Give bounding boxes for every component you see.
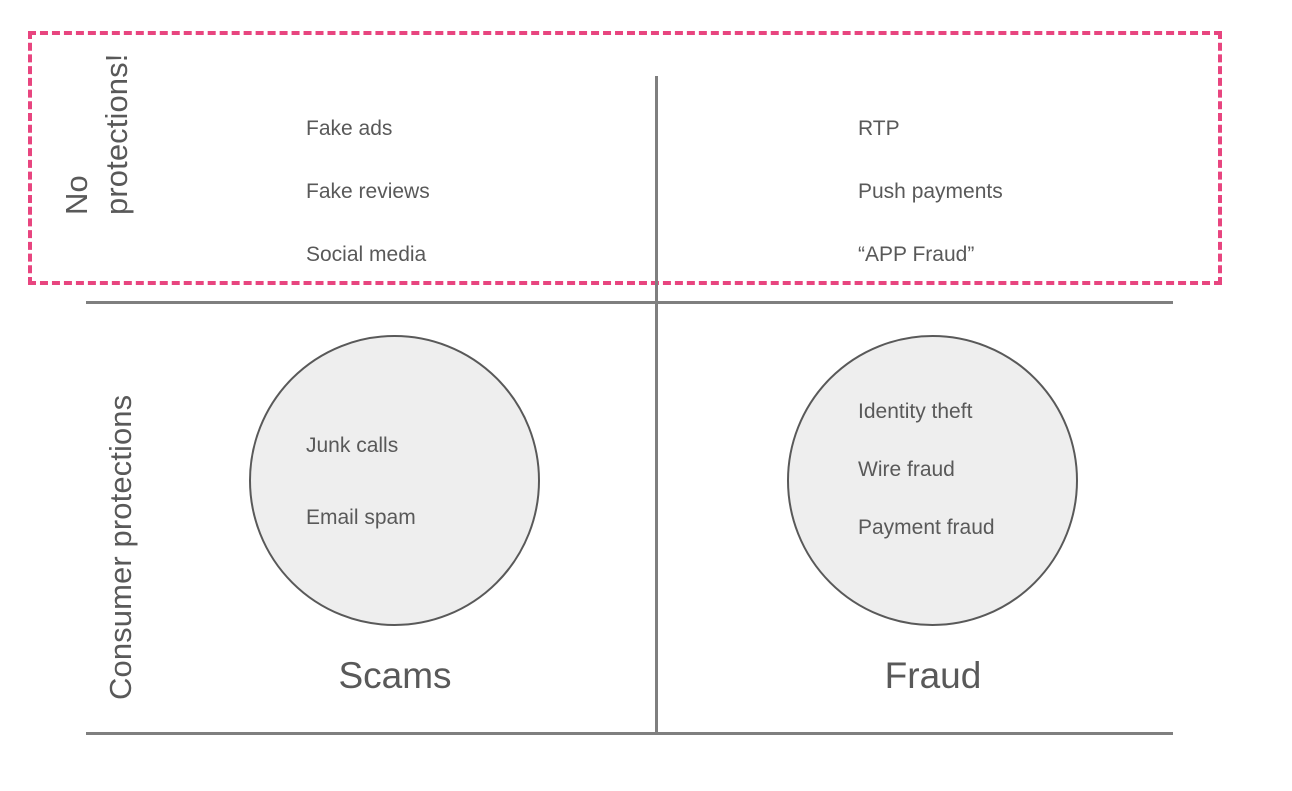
list-item: Email spam (306, 506, 416, 530)
row-label-no-protections-line1: No (59, 175, 95, 215)
list-item: “APP Fraud” (858, 243, 1003, 267)
list-item: Wire fraud (858, 458, 995, 482)
list-item: Payment fraud (858, 516, 995, 540)
column-label-scams: Scams (250, 655, 540, 697)
vertical-divider-line (655, 76, 658, 735)
list-item: Push payments (858, 180, 1003, 204)
list-item: Identity theft (858, 400, 995, 424)
list-item: Social media (306, 243, 430, 267)
bottom-axis-line (86, 732, 1173, 735)
quadrant-scams-no-protections: Fake ads Fake reviews Social media (306, 117, 430, 267)
no-protections-highlight-box (28, 31, 1222, 285)
quadrant-fraud-protected: Identity theft Wire fraud Payment fraud (858, 400, 995, 540)
list-item: Fake reviews (306, 180, 430, 204)
list-item: Junk calls (306, 434, 416, 458)
quadrant-scams-protected: Junk calls Email spam (306, 434, 416, 530)
list-item: Fake ads (306, 117, 430, 141)
quadrant-fraud-no-protections: RTP Push payments “APP Fraud” (858, 117, 1003, 267)
list-item: RTP (858, 117, 1003, 141)
row-label-no-protections-line2: protections! (99, 54, 135, 215)
diagram-canvas: No protections! Consumer protections Fak… (0, 0, 1292, 791)
horizontal-divider-line (86, 301, 1173, 304)
column-label-fraud: Fraud (788, 655, 1078, 697)
row-label-consumer-protections: Consumer protections (103, 395, 139, 700)
